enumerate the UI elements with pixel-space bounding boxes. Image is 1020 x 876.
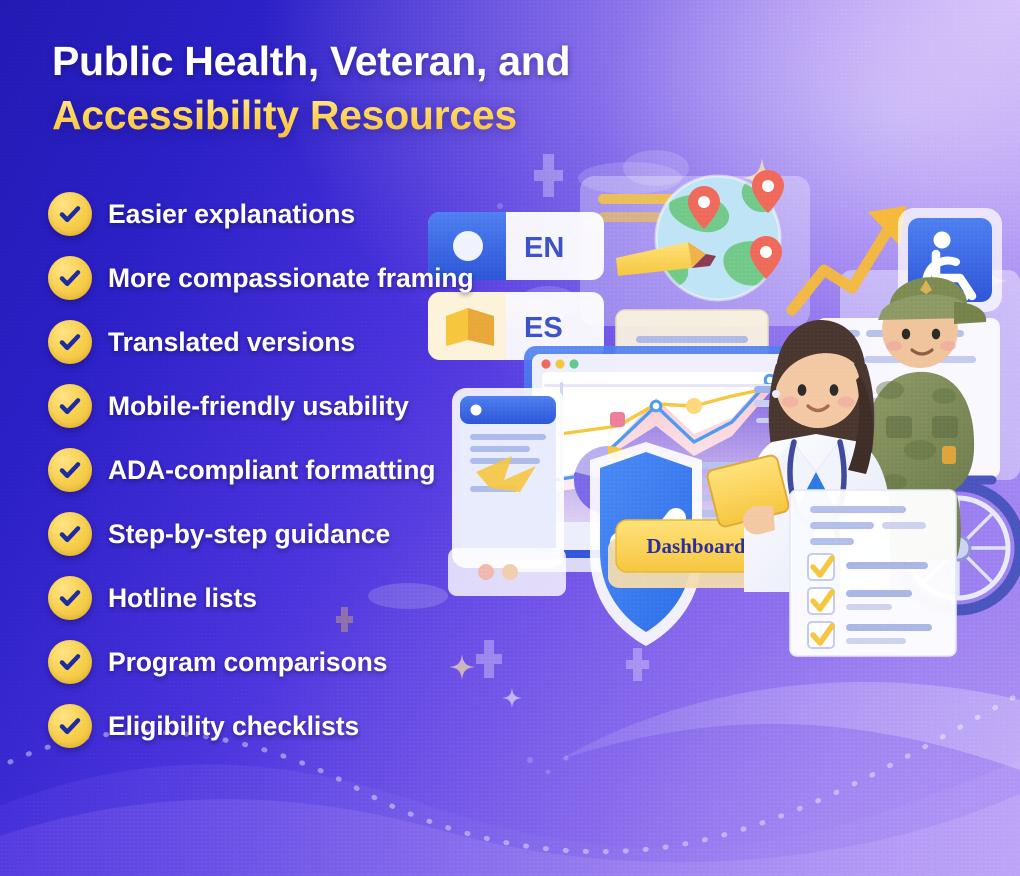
list-item: Mobile-friendly usability	[48, 384, 474, 428]
list-item-label: ADA-compliant formatting	[108, 455, 435, 486]
list-item-label: Mobile-friendly usability	[108, 391, 409, 422]
list-item-label: More compassionate framing	[108, 263, 474, 294]
check-circle-icon	[48, 320, 92, 364]
title-line-1: Public Health, Veteran, and	[52, 34, 692, 88]
check-circle-icon	[48, 256, 92, 300]
check-circle-icon	[48, 448, 92, 492]
list-item-label: Hotline lists	[108, 583, 257, 614]
check-circle-icon	[48, 576, 92, 620]
list-item: Program comparisons	[48, 640, 474, 684]
poster-title: Public Health, Veteran, and Accessibilit…	[52, 34, 692, 142]
title-line-2: Accessibility Resources	[52, 88, 692, 142]
check-circle-icon	[48, 512, 92, 556]
infographic-poster: Public Health, Veteran, and Accessibilit…	[0, 0, 1020, 876]
list-item: Translated versions	[48, 320, 474, 364]
language-code-en: EN	[524, 232, 564, 264]
check-circle-icon	[48, 192, 92, 236]
list-item: Hotline lists	[48, 576, 474, 620]
check-circle-icon	[48, 640, 92, 684]
check-circle-icon	[48, 384, 92, 428]
hero-illustration: EN ES	[420, 150, 1020, 670]
list-item: Step-by-step guidance	[48, 512, 474, 556]
list-item: ADA-compliant formatting	[48, 448, 474, 492]
dashboard-button-label: Dashboard	[646, 534, 746, 558]
list-item-label: Program comparisons	[108, 647, 387, 678]
list-item-label: Translated versions	[108, 327, 355, 358]
language-code-es: ES	[524, 312, 563, 344]
list-item: Easier explanations	[48, 192, 474, 236]
list-item: Eligibility checklists	[48, 704, 474, 748]
list-item-label: Easier explanations	[108, 199, 355, 230]
list-item: More compassionate framing	[48, 256, 474, 300]
benefits-checklist: Easier explanations More compassionate f…	[48, 192, 474, 768]
checklist-document	[790, 490, 956, 656]
list-item-label: Step-by-step guidance	[108, 519, 390, 550]
check-circle-icon	[48, 704, 92, 748]
list-item-label: Eligibility checklists	[108, 711, 359, 742]
